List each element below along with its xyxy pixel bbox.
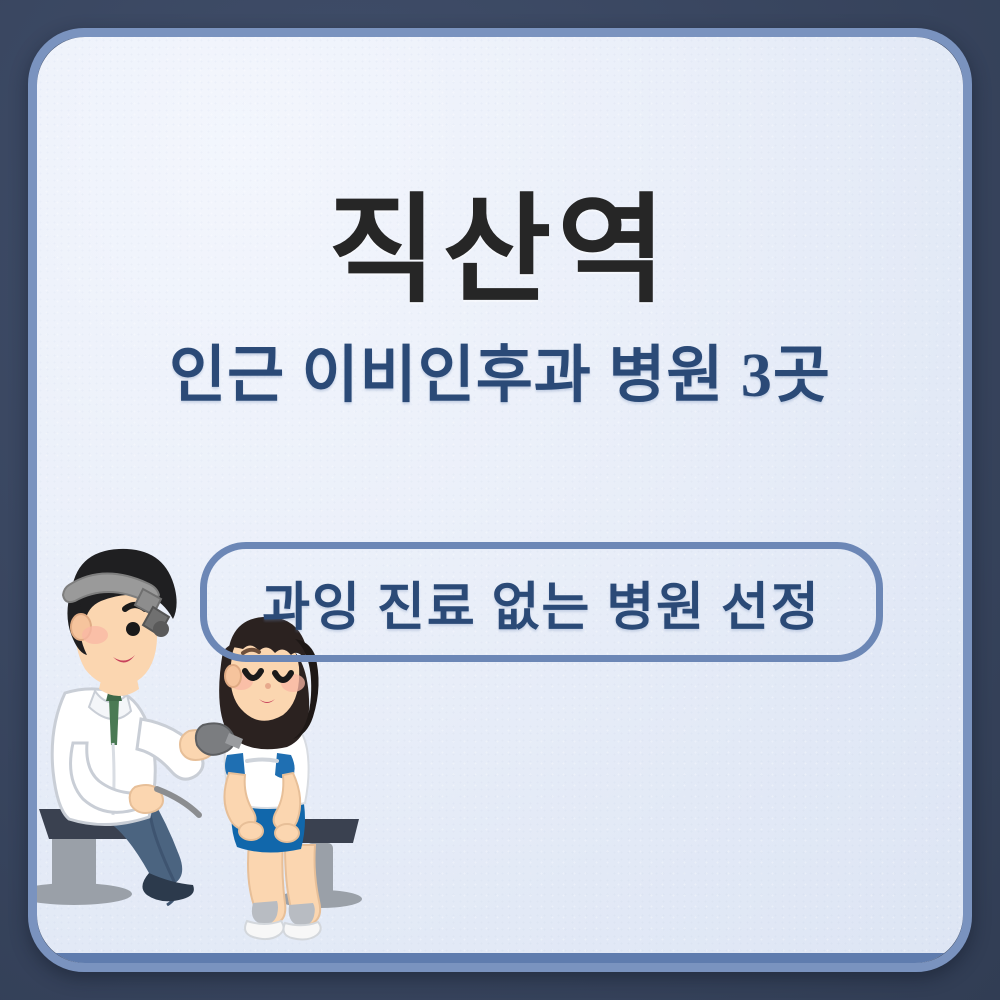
poster-canvas: 직산역 인근 이비인후과 병원 3곳 과잉 진료 없는 병원 선정	[0, 0, 1000, 1000]
badge-label: 과잉 진료 없는 병원 선정	[262, 565, 820, 640]
poster-panel: 직산역 인근 이비인후과 병원 3곳 과잉 진료 없는 병원 선정	[37, 37, 963, 963]
headline-block: 직산역 인근 이비인후과 병원 3곳	[37, 189, 963, 410]
child-patient	[219, 617, 321, 940]
selection-criteria-badge[interactable]: 과잉 진료 없는 병원 선정	[200, 542, 883, 662]
page-subtitle: 인근 이비인후과 병원 3곳	[37, 342, 963, 410]
page-title: 직산역	[37, 189, 963, 314]
